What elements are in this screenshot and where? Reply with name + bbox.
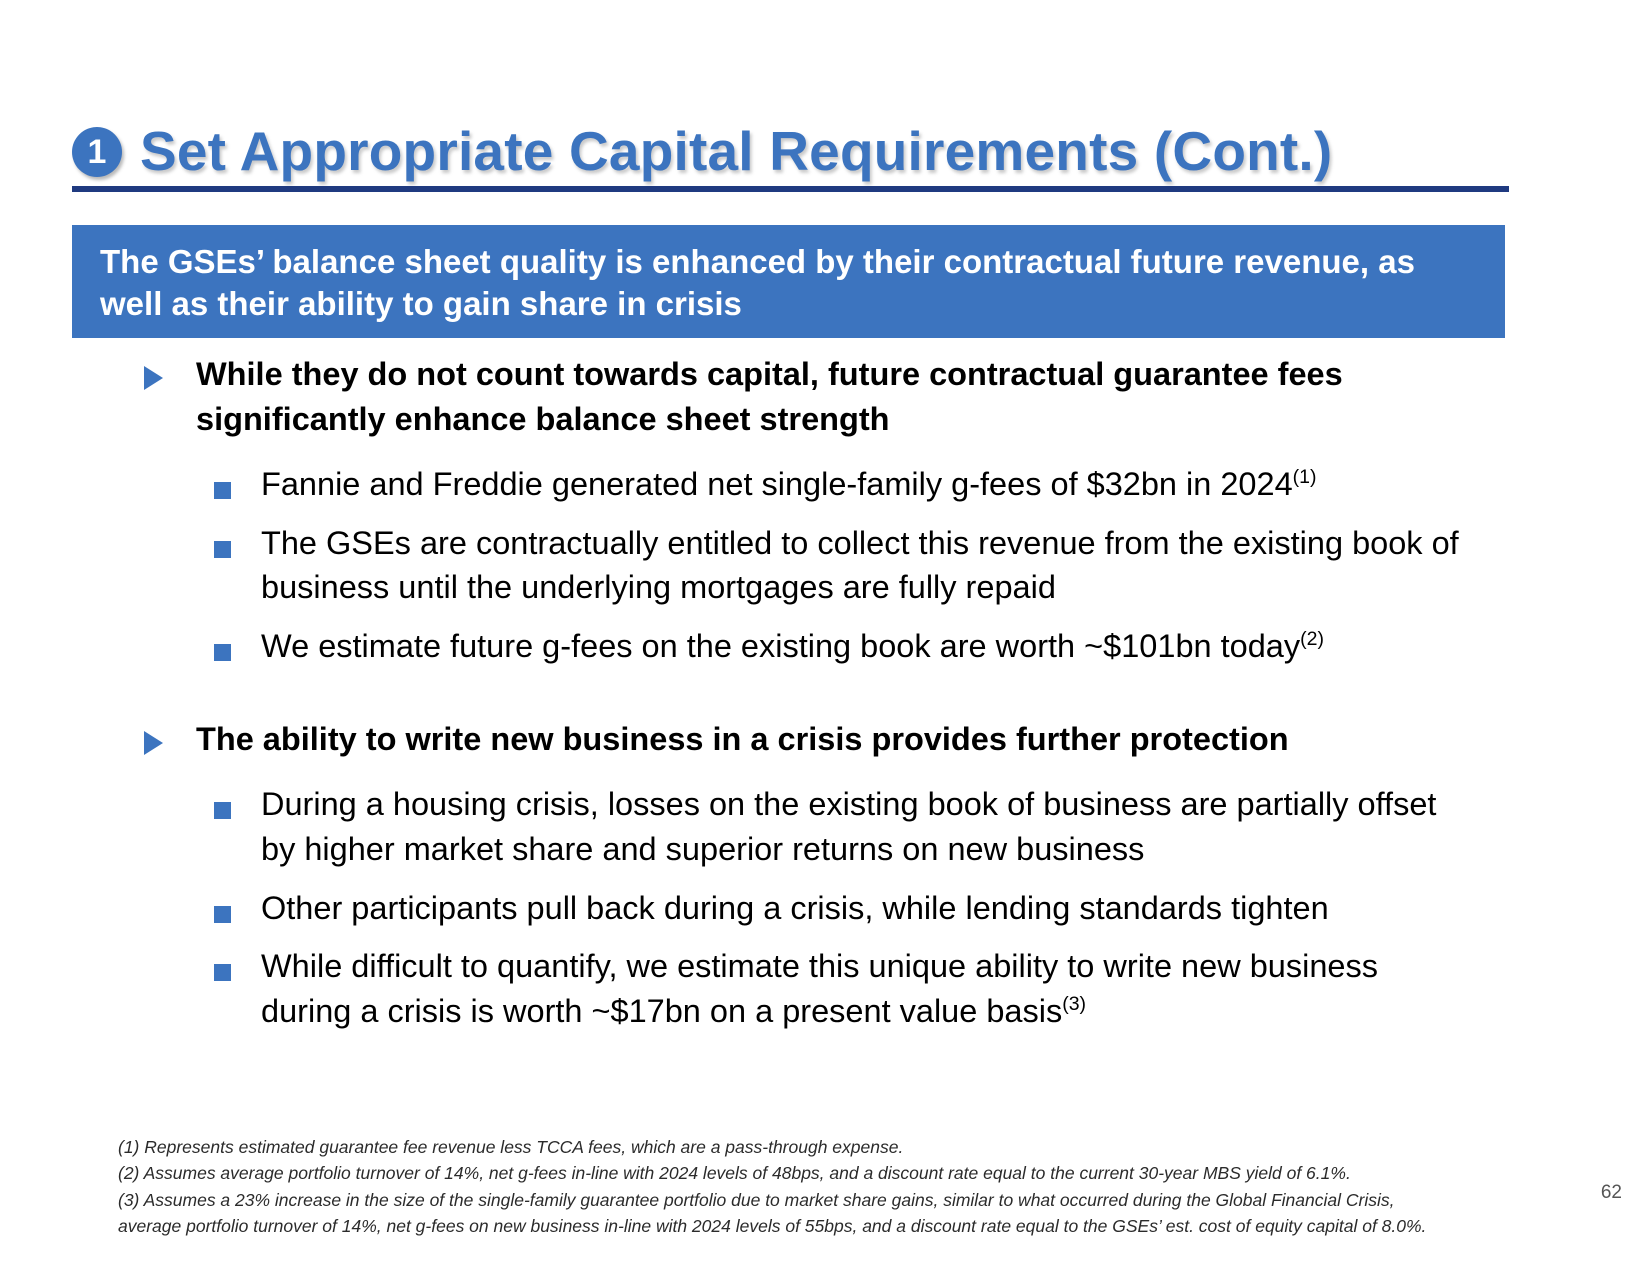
- bullet-level2-body: During a housing crisis, losses on the e…: [261, 786, 1436, 867]
- bullet-level2-body: While difficult to quantify, we estimate…: [261, 948, 1378, 1029]
- footnote-line: (1) Represents estimated guarantee fee r…: [118, 1134, 1448, 1160]
- triangle-bullet-icon: [144, 366, 170, 390]
- title-divider: [72, 186, 1509, 192]
- bullet-content: While they do not count towards capital,…: [72, 352, 1532, 1048]
- square-bullet-icon: [214, 906, 231, 923]
- footnote-ref: (1): [1293, 466, 1317, 488]
- bullet-level1-text: The ability to write new business in a c…: [196, 717, 1289, 762]
- bullet-level2-body: The GSEs are contractually entitled to c…: [261, 525, 1459, 606]
- bullet-group: While they do not count towards capital,…: [72, 352, 1532, 669]
- triangle-bullet-icon: [144, 731, 170, 755]
- square-bullet-icon: [214, 482, 231, 499]
- sub-bullet-list: Fannie and Freddie generated net single-…: [72, 462, 1532, 669]
- headline-banner-text: The GSEs’ balance sheet quality is enhan…: [100, 241, 1483, 324]
- bullet-level2-body: We estimate future g-fees on the existin…: [261, 628, 1300, 664]
- bullet-level2-text: The GSEs are contractually entitled to c…: [261, 521, 1471, 611]
- square-bullet-icon: [214, 802, 231, 819]
- footnote-line: (2) Assumes average portfolio turnover o…: [118, 1160, 1448, 1186]
- bullet-level2-text: Fannie and Freddie generated net single-…: [261, 462, 1317, 507]
- footnote-line: average portfolio turnover of 14%, net g…: [118, 1213, 1448, 1239]
- footnotes: (1) Represents estimated guarantee fee r…: [118, 1134, 1448, 1239]
- bullet-group-spacer: [72, 683, 1532, 717]
- page-number: 62: [1601, 1182, 1622, 1204]
- bullet-level2-text: While difficult to quantify, we estimate…: [261, 944, 1471, 1034]
- page-title: Set Appropriate Capital Requirements (Co…: [140, 119, 1332, 183]
- bullet-level2-text: We estimate future g-fees on the existin…: [261, 624, 1324, 669]
- bullet-level2: While difficult to quantify, we estimate…: [72, 944, 1532, 1034]
- sub-bullet-list: During a housing crisis, losses on the e…: [72, 782, 1532, 1034]
- bullet-level1: The ability to write new business in a c…: [72, 717, 1532, 762]
- square-bullet-icon: [214, 644, 231, 661]
- square-bullet-icon: [214, 541, 231, 558]
- bullet-level2: Fannie and Freddie generated net single-…: [72, 462, 1532, 507]
- slide-title-row: 1 Set Appropriate Capital Requirements (…: [72, 112, 1532, 190]
- bullet-level2-text: Other participants pull back during a cr…: [261, 886, 1329, 931]
- bullet-level2: During a housing crisis, losses on the e…: [72, 782, 1532, 872]
- footnote-ref: (3): [1062, 993, 1086, 1015]
- section-number-badge: 1: [72, 127, 122, 177]
- bullet-group: The ability to write new business in a c…: [72, 717, 1532, 1034]
- slide: 1 Set Appropriate Capital Requirements (…: [0, 0, 1650, 1275]
- bullet-level2: Other participants pull back during a cr…: [72, 886, 1532, 931]
- square-bullet-icon: [214, 964, 231, 981]
- bullet-level2-text: During a housing crisis, losses on the e…: [261, 782, 1471, 872]
- footnote-ref: (2): [1300, 628, 1324, 650]
- footnote-line: (3) Assumes a 23% increase in the size o…: [118, 1187, 1448, 1213]
- bullet-level1: While they do not count towards capital,…: [72, 352, 1532, 442]
- bullet-level2-body: Fannie and Freddie generated net single-…: [261, 466, 1293, 502]
- bullet-level1-text: While they do not count towards capital,…: [196, 352, 1441, 442]
- bullet-level2: The GSEs are contractually entitled to c…: [72, 521, 1532, 611]
- headline-banner: The GSEs’ balance sheet quality is enhan…: [72, 225, 1505, 338]
- bullet-level2: We estimate future g-fees on the existin…: [72, 624, 1532, 669]
- bullet-level2-body: Other participants pull back during a cr…: [261, 890, 1329, 926]
